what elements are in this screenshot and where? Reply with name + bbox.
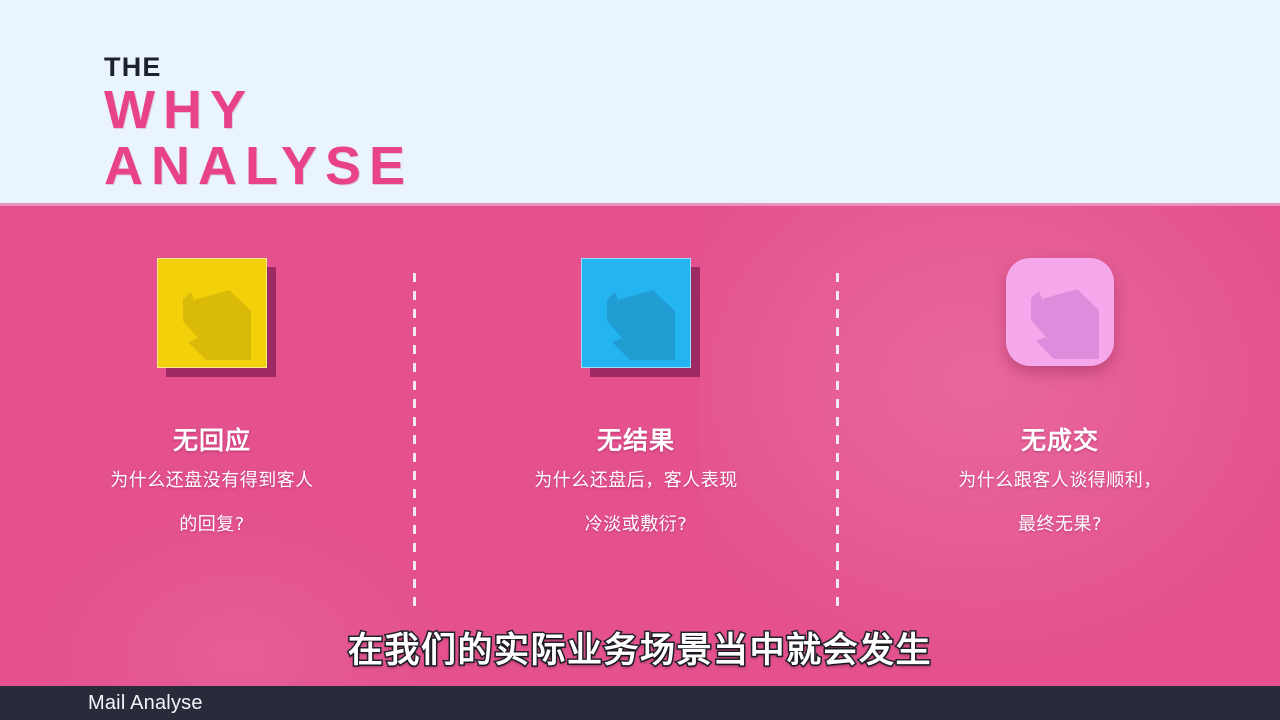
- column-title-3: 无成交: [848, 421, 1272, 457]
- speech-bubble-icon: [1006, 258, 1114, 366]
- column-description-2: 为什么还盘后，客人表现 冷淡或敷衍?: [424, 459, 848, 547]
- title-line-2: ANALYSE: [104, 138, 413, 194]
- column-description-3-line-1: 为什么跟客人谈得顺利，: [958, 470, 1162, 491]
- icon-tile-1: [157, 258, 267, 368]
- bottom-bar: Mail Analyse: [0, 686, 1280, 720]
- column-description-3: 为什么跟客人谈得顺利， 最终无果?: [848, 459, 1272, 547]
- speech-bubble-icon: [158, 259, 266, 367]
- icon-tile-wrap-1: [0, 258, 424, 378]
- title-block: THE WHY ANALYSE: [104, 52, 413, 194]
- slide-header: THE WHY ANALYSE: [0, 0, 1280, 206]
- video-caption: 在我们的实际业务场景当中就会发生: [0, 622, 1280, 673]
- speech-bubble-icon: [582, 259, 690, 367]
- title-line-1: WHY: [104, 82, 413, 138]
- column-description-1-line-1: 为什么还盘没有得到客人: [110, 470, 314, 491]
- icon-tile-wrap-2: [424, 258, 848, 378]
- column-description-1: 为什么还盘没有得到客人 的回复?: [0, 459, 424, 547]
- icon-tile-wrap-3: [848, 258, 1272, 378]
- reason-column-2: 无结果 为什么还盘后，客人表现 冷淡或敷衍?: [424, 206, 848, 686]
- slide-canvas: THE WHY ANALYSE 无回应 为: [0, 0, 1280, 720]
- column-title-1: 无回应: [0, 421, 424, 457]
- column-description-2-line-2: 冷淡或敷衍?: [424, 503, 848, 547]
- reason-column-1: 无回应 为什么还盘没有得到客人 的回复?: [0, 206, 424, 686]
- bottom-bar-title: Mail Analyse: [88, 692, 203, 715]
- icon-tile-2: [581, 258, 691, 368]
- column-description-1-line-2: 的回复?: [0, 503, 424, 547]
- column-description-3-line-2: 最终无果?: [848, 503, 1272, 547]
- icon-tile-3: [1006, 258, 1114, 366]
- content-panel: 无回应 为什么还盘没有得到客人 的回复? 无结果 为什么还盘后，客人表现: [0, 206, 1280, 686]
- column-description-2-line-1: 为什么还盘后，客人表现: [534, 470, 738, 491]
- title-kicker: THE: [104, 52, 413, 82]
- column-title-2: 无结果: [424, 421, 848, 457]
- reason-column-3: 无成交 为什么跟客人谈得顺利， 最终无果?: [848, 206, 1272, 686]
